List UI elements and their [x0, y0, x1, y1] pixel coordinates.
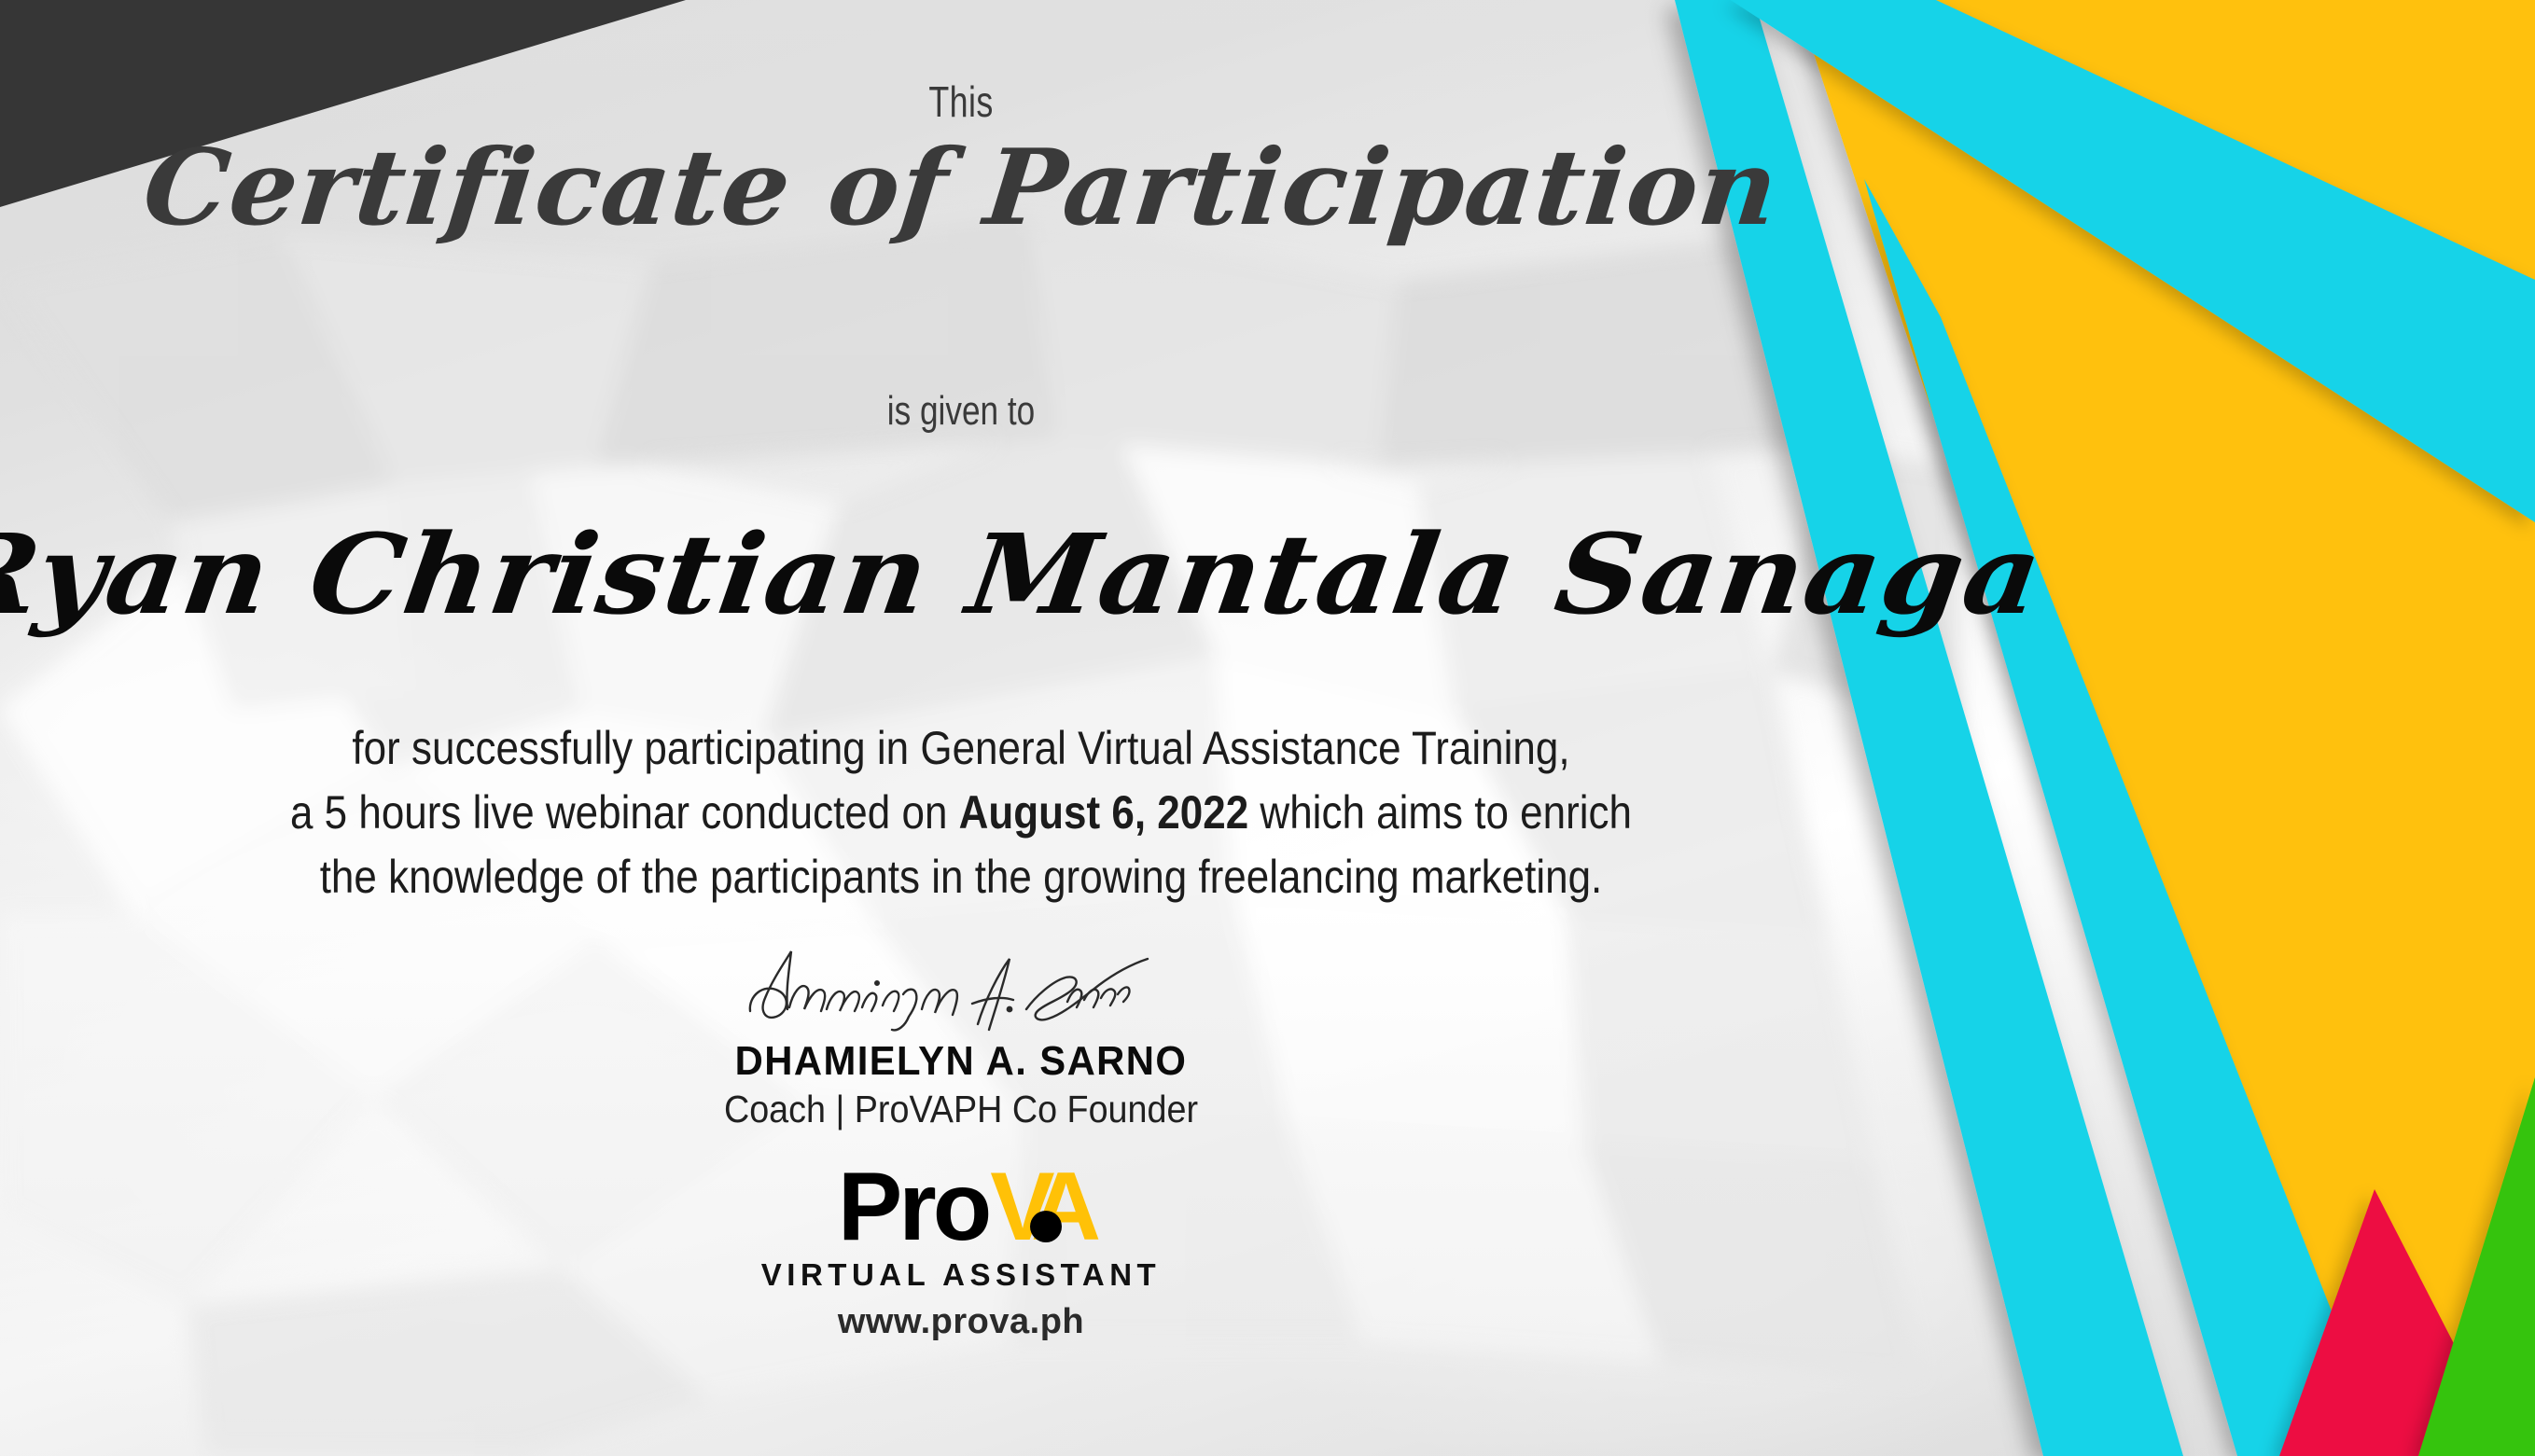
- body-line-3: the knowledge of the participants in the…: [116, 845, 1807, 909]
- signer-role: Coach | ProVAPH Co Founder: [77, 1088, 1845, 1131]
- body-line-2-suffix: which aims to enrich: [1248, 786, 1632, 839]
- prova-logo: ProVA VIRTUAL ASSISTANT: [0, 1158, 1922, 1326]
- body-line-2-prefix: a 5 hours live webinar conducted on: [290, 786, 959, 839]
- signer-name: DHAMIELYN A. SARNO: [49, 1038, 1874, 1085]
- body-line-2: a 5 hours live webinar conducted on Augu…: [116, 781, 1807, 845]
- logo-tagline: VIRTUAL ASSISTANT: [761, 1259, 1161, 1290]
- logo-wordmark: ProVA: [761, 1158, 1161, 1255]
- recipient-name: Ryan Christian Mantala Sanaga: [0, 509, 1989, 639]
- certificate-title: Certificate of Participation: [0, 127, 1947, 249]
- logo-dot-icon: [1030, 1211, 1062, 1242]
- event-date: August 6, 2022: [959, 786, 1249, 839]
- logo-website: www.prova.ph: [0, 1302, 1922, 1342]
- signature-image: [0, 942, 1922, 1035]
- body-line-1: for successfully participating in Genera…: [116, 716, 1807, 781]
- logo-word-pro: Pro: [838, 1153, 988, 1261]
- logo-va-text: VA: [990, 1153, 1084, 1261]
- logo-mark: ProVA VIRTUAL ASSISTANT: [761, 1158, 1161, 1290]
- given-to-label: is given to: [192, 388, 1730, 435]
- logo-word-va: VA: [990, 1158, 1084, 1255]
- certificate-canvas: This Certificate of Participation is giv…: [0, 0, 2535, 1456]
- intro-label: This: [212, 76, 1711, 127]
- certificate-body: for successfully participating in Genera…: [116, 716, 1807, 909]
